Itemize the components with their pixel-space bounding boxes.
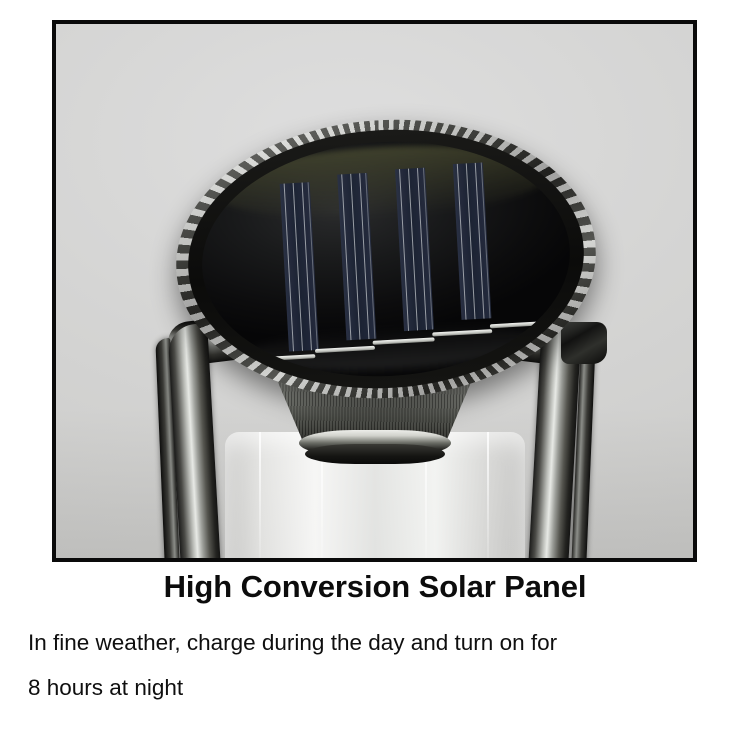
cell-grid-line <box>350 174 360 340</box>
caption-block: High Conversion Solar Panel In fine weat… <box>0 568 750 710</box>
cell-grid-line <box>341 174 351 340</box>
description-line-1: In fine weather, charge during the day a… <box>28 620 750 665</box>
cell-grid-line <box>293 183 303 351</box>
cell-grid-line <box>302 183 312 351</box>
cell-grid-line <box>457 164 467 320</box>
solar-panel-assembly <box>169 108 604 409</box>
cell-grid-line <box>408 169 418 331</box>
description-line-2: 8 hours at night <box>28 665 750 710</box>
glass-rib <box>487 432 489 562</box>
cell-grid-line <box>399 169 409 331</box>
photo-backdrop <box>56 24 693 558</box>
solar-panel-face <box>196 132 576 386</box>
glass-rib <box>259 432 261 562</box>
cell-grid-line <box>359 173 369 339</box>
cell-grid-line <box>466 163 476 319</box>
page-title: High Conversion Solar Panel <box>0 568 750 606</box>
cup-collar-lower <box>305 444 445 464</box>
cell-grid-line <box>284 184 294 352</box>
product-photo-frame <box>52 20 697 562</box>
cell-grid-line <box>417 168 427 330</box>
